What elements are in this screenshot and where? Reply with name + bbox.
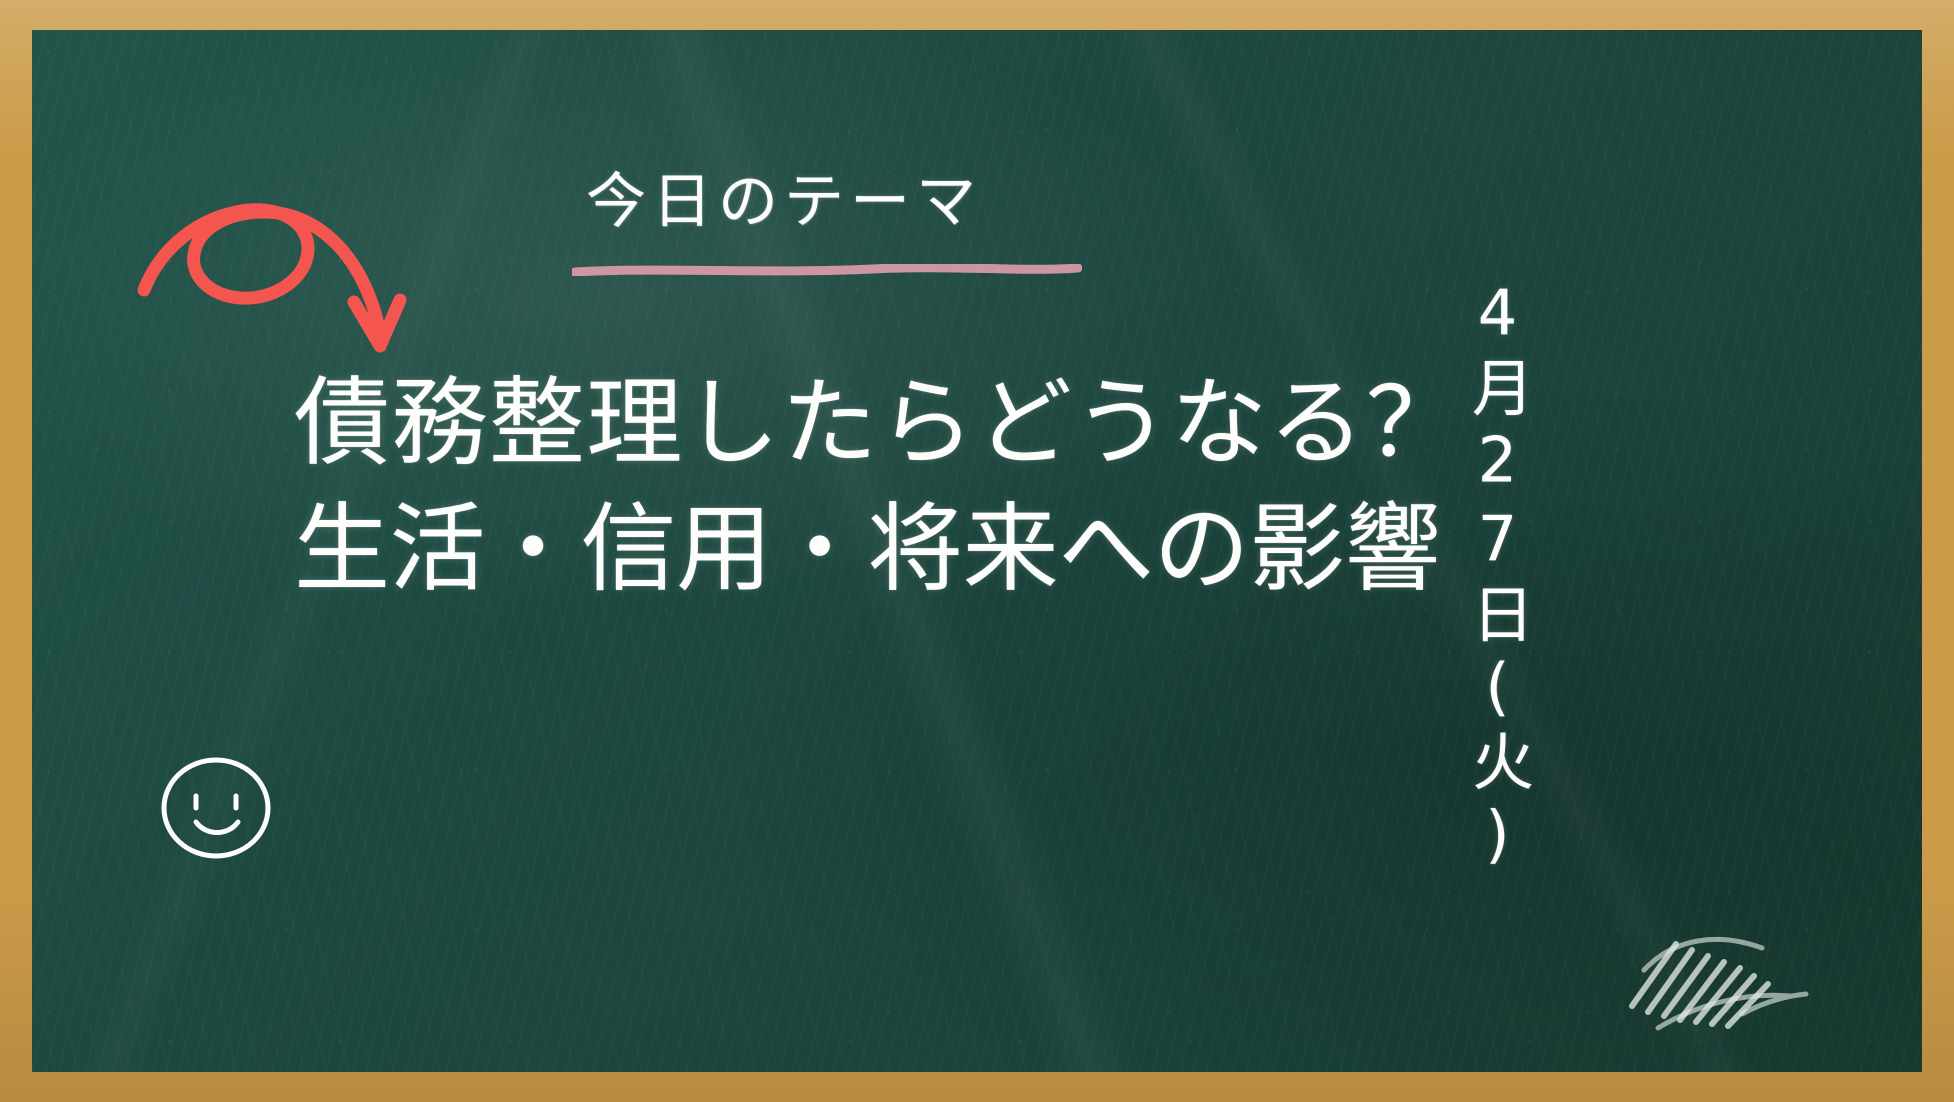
- looping-red-arrow-icon: [132, 150, 462, 370]
- theme-header-label: 今日のテーマ: [586, 172, 982, 232]
- theme-header-group: 今日のテーマ: [572, 172, 1092, 292]
- slide-title-line-2: 生活・信用・将来への影響: [294, 486, 1384, 612]
- chalkboard: 今日のテーマ 債務整理したらどうなる？ 生活・信用・将来への影響 4月27日(火…: [32, 30, 1922, 1072]
- smiley-face-icon: [152, 748, 282, 868]
- slide-title-line-1: 債務整理したらどうなる？: [294, 360, 1384, 486]
- slide-title: 債務整理したらどうなる？ 生活・信用・将来への影響: [294, 360, 1384, 612]
- slide-date: 4月27日(火): [1422, 276, 1532, 877]
- chalk-scribble-icon: [1622, 910, 1822, 1040]
- slide-canvas: 今日のテーマ 債務整理したらどうなる？ 生活・信用・将来への影響 4月27日(火…: [0, 0, 1954, 1102]
- theme-header-underline: [572, 264, 1082, 276]
